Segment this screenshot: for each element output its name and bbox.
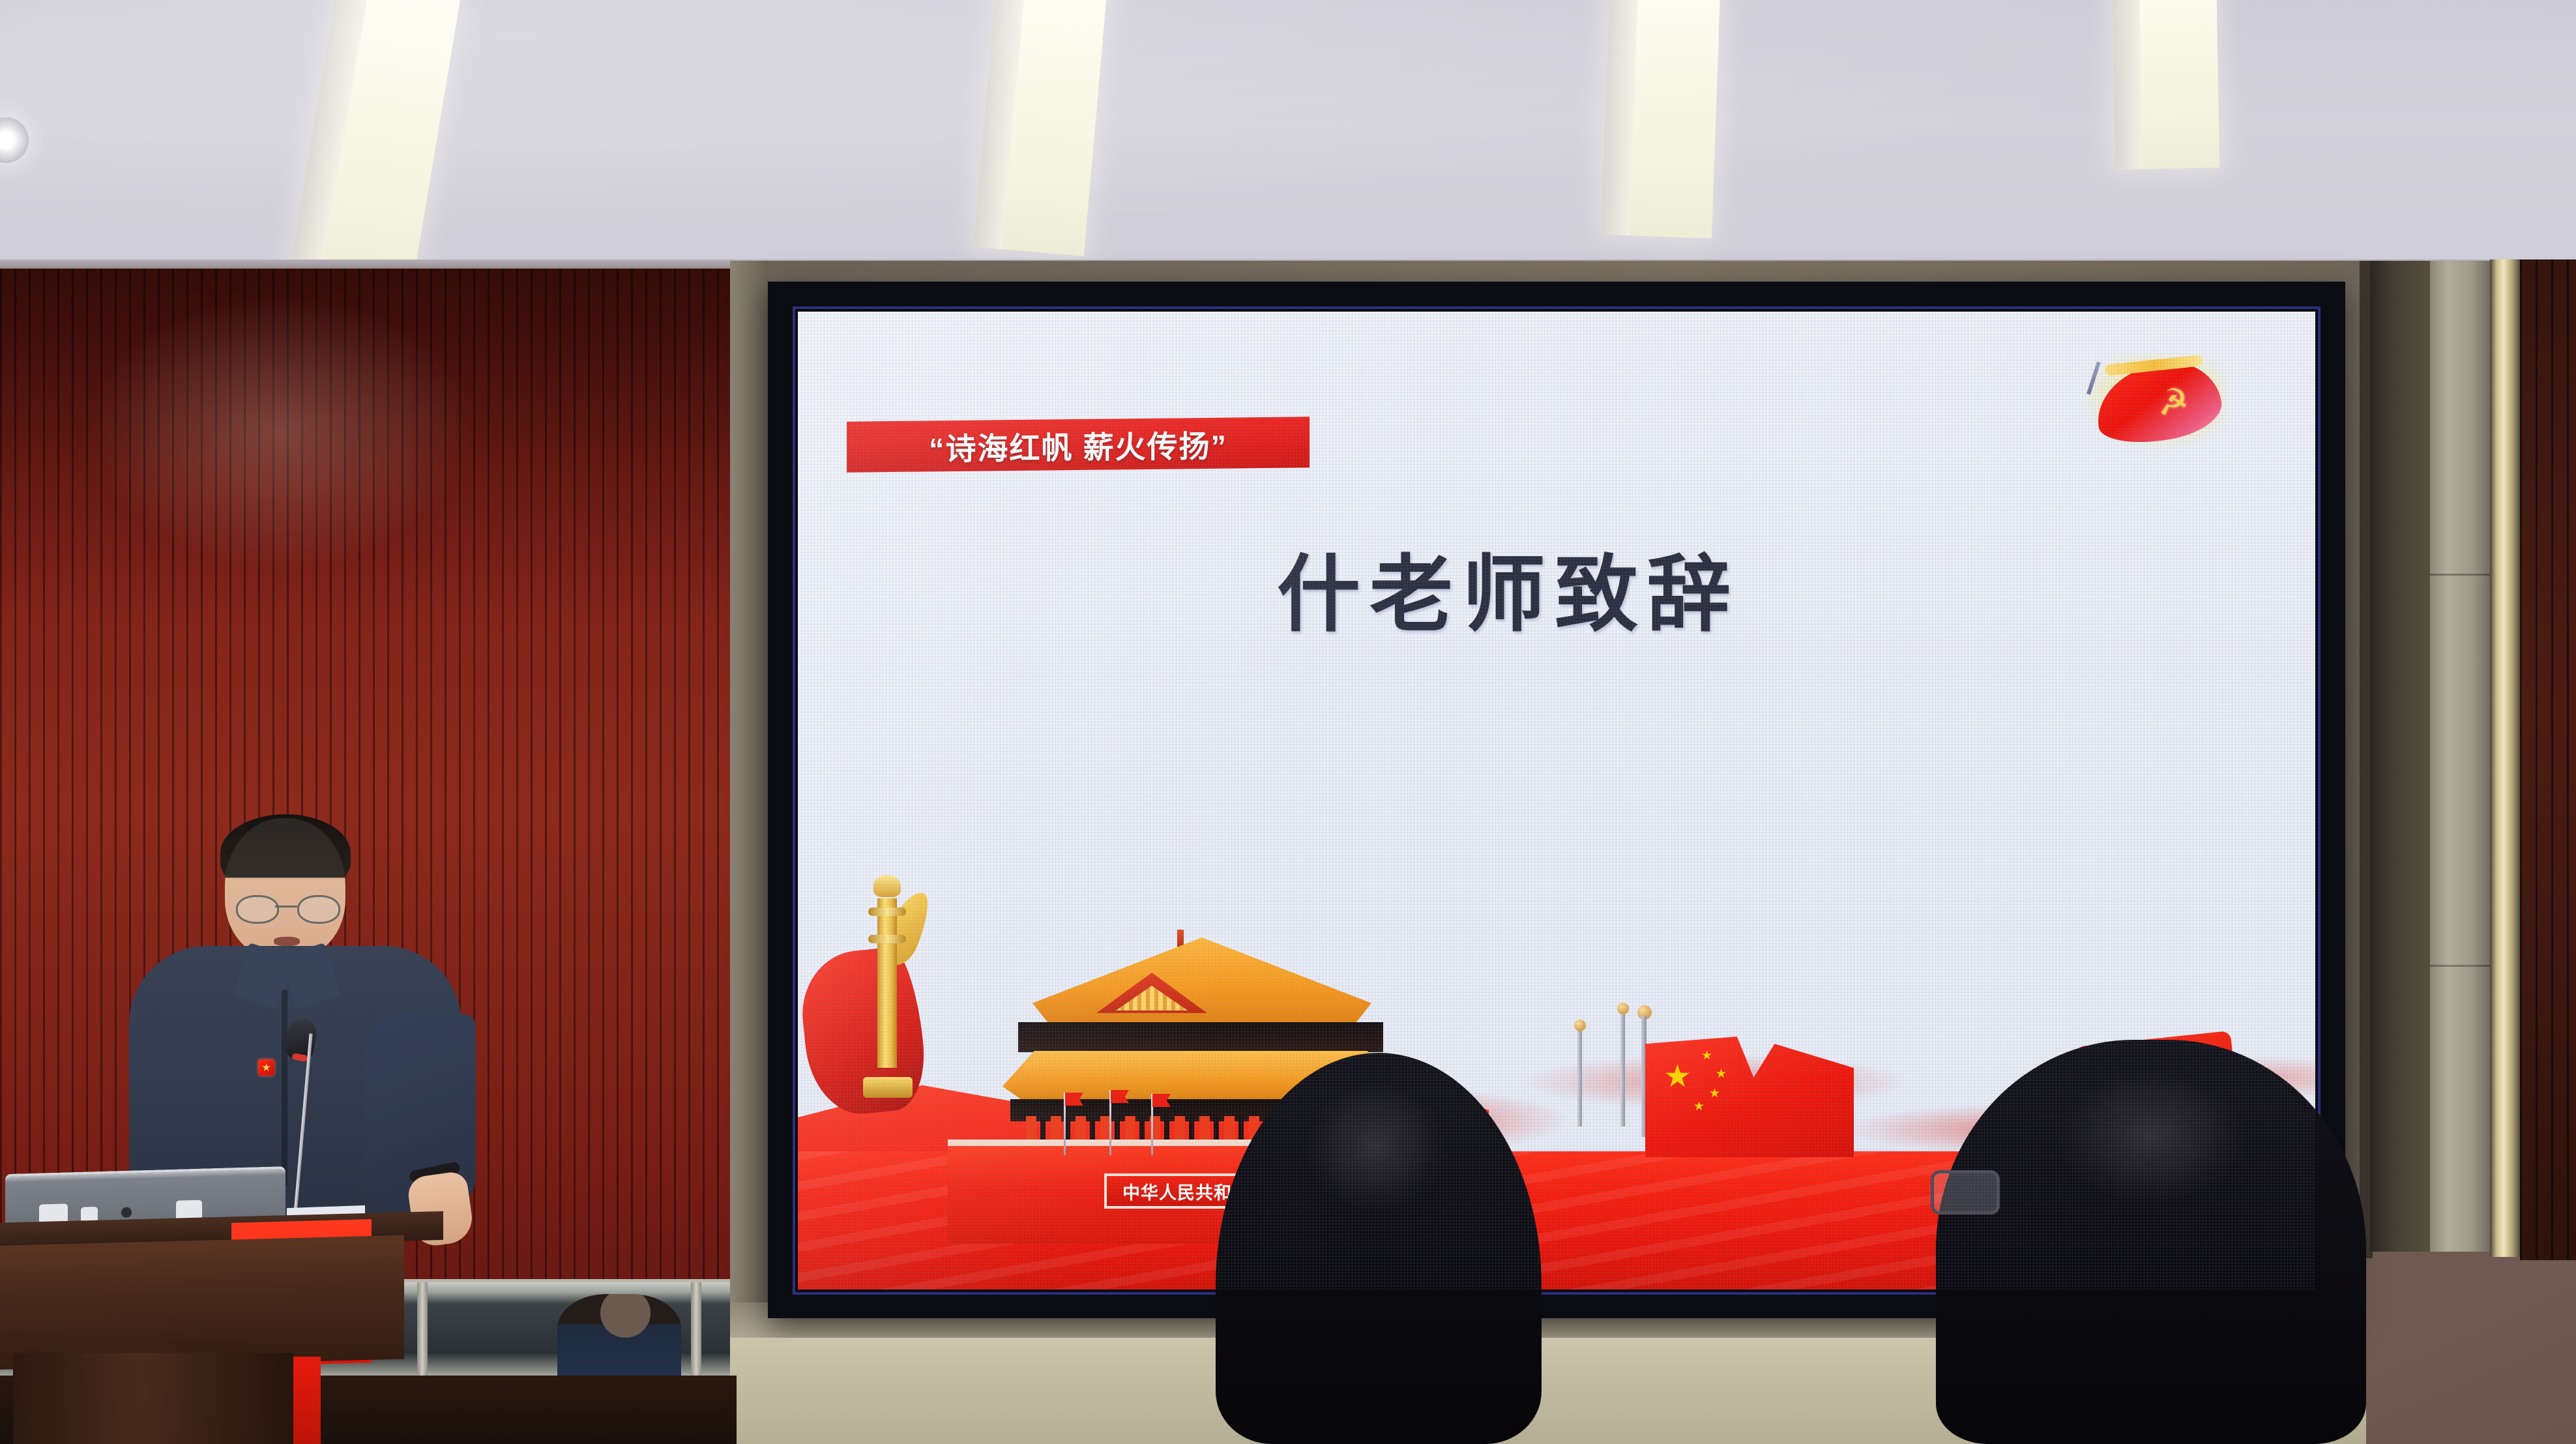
window-mullion-3 [691, 1282, 701, 1380]
speaker-mouth [274, 937, 300, 946]
audience-member-right [1936, 1040, 2392, 1444]
hammer-sickle-icon: ☭ [2151, 381, 2195, 426]
chinese-national-flag-icon: ★ ★ ★ ★ ★ [1639, 1012, 1854, 1162]
ceiling-light-cove-1 [288, 0, 461, 274]
podium-body [0, 1235, 404, 1370]
audience-member-center [1216, 1053, 1555, 1444]
flag-star-2: ★ [1701, 1050, 1712, 1062]
gold-trim-strip [2490, 259, 2520, 1257]
ceiling-light-cove-4 [2112, 0, 2219, 169]
ceiling-downlight [0, 117, 29, 163]
slide-banner: “诗海红帆 薪火传扬” [847, 417, 1310, 472]
ceiling-light-cove-3 [1601, 0, 1721, 239]
audience-glasses-icon [1931, 1170, 2000, 1215]
flag-star-large: ★ [1663, 1061, 1691, 1093]
flag-star-3: ★ [1716, 1068, 1727, 1080]
right-wood-slat-wall [2520, 259, 2576, 1260]
party-member-pin-icon [258, 1059, 274, 1076]
huabiao-column-icon [851, 872, 926, 1094]
party-flag-icon: ☭ [2077, 352, 2227, 453]
speaker-at-podium [0, 818, 521, 1444]
flag-star-4: ★ [1709, 1087, 1720, 1100]
slide-banner-text: “诗海红帆 薪火传扬” [929, 420, 1227, 469]
speaker-shirt-placket [282, 990, 287, 1186]
podium-column [13, 1353, 293, 1444]
flag-star-5: ★ [1693, 1100, 1705, 1113]
person-behind-window [557, 1294, 681, 1380]
ceiling [0, 0, 2576, 274]
presentation-photo-scene: “诗海红帆 薪火传扬” 什老师致辞 ☭ [0, 0, 2576, 1444]
speaker-glasses-icon [235, 895, 339, 921]
stone-column [2430, 261, 2490, 1252]
laptop-port [121, 1207, 132, 1218]
ceiling-light-cove-2 [973, 0, 1107, 256]
slide-title: 什老师致辞 [1215, 527, 1802, 647]
